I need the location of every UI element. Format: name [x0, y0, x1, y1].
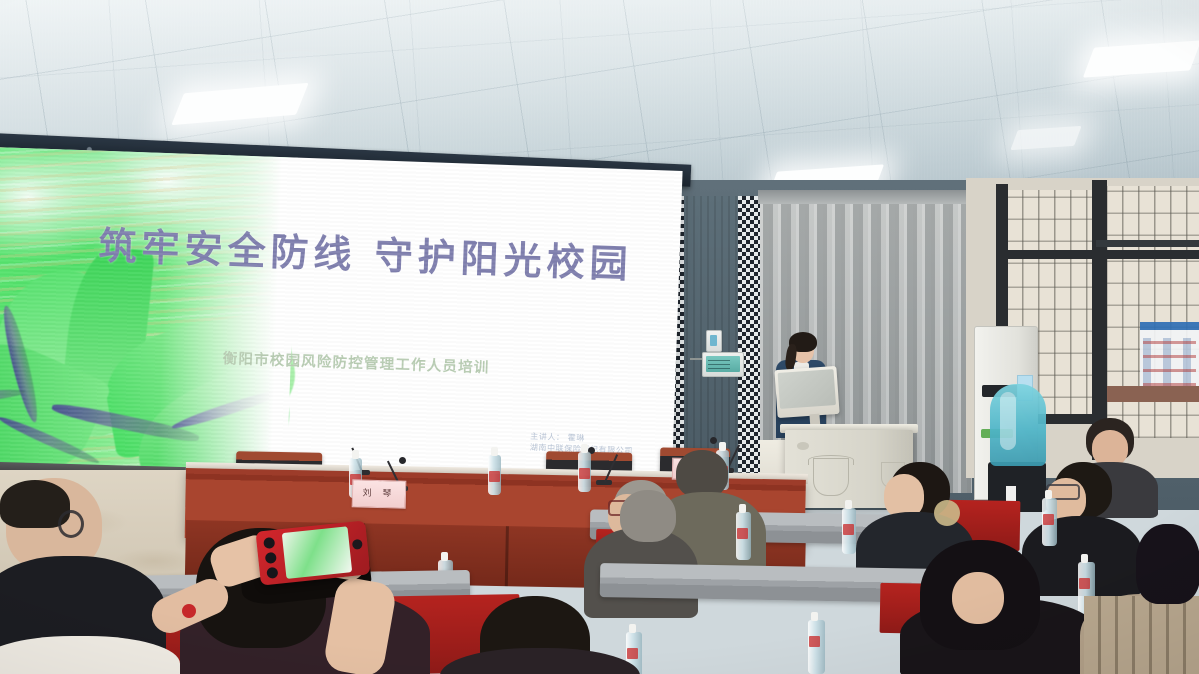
- wall-poster: [1140, 322, 1199, 390]
- table-microphone-head[interactable]: [710, 437, 717, 444]
- water-dispenser-bottle: [990, 384, 1046, 466]
- smartphone-camera-lens: [263, 537, 275, 549]
- light-switch[interactable]: [706, 330, 722, 352]
- audience-plaid-scarf: [1084, 596, 1199, 674]
- window-mullion: [1096, 240, 1199, 247]
- water-bottle: [1042, 498, 1057, 546]
- artwork-fade: [156, 153, 298, 503]
- wrist-band: [182, 604, 196, 618]
- audience-head: [620, 490, 676, 542]
- podium-vase-motif: [813, 458, 849, 496]
- audience-head: [1136, 524, 1199, 604]
- curtain-rail: [758, 190, 974, 204]
- control-panel-display: [706, 356, 740, 372]
- audience-face: [952, 572, 1004, 624]
- water-bottle: [842, 508, 856, 554]
- smartphone-screen: [282, 526, 352, 579]
- table-nameplate-text: 刘 琴: [353, 480, 406, 507]
- slide-artwork: [0, 147, 294, 503]
- audience-head: [676, 450, 728, 498]
- audience-smartphone[interactable]: [255, 520, 370, 585]
- table-panel-seam: [505, 526, 509, 586]
- table-nameplate: 刘 琴: [352, 479, 407, 508]
- smartphone-camera-lens: [266, 567, 278, 579]
- water-dispenser-tap[interactable]: [1006, 486, 1016, 502]
- smartphone-camera-lens: [265, 552, 277, 564]
- podium-monitor-screen: [778, 369, 836, 409]
- smartphone-camera-lens: [352, 539, 363, 550]
- window-mullion: [996, 250, 1199, 259]
- podium-monitor[interactable]: [774, 366, 839, 418]
- window-sill: [1096, 386, 1199, 402]
- av-control-panel[interactable]: [702, 352, 744, 377]
- water-bottle: [808, 620, 825, 674]
- table-microphone-head[interactable]: [399, 457, 406, 464]
- water-bottle: [488, 455, 501, 495]
- audience-face: [1092, 430, 1128, 466]
- conference-room-scene: 筑牢安全防线 守护阳光校园 衡阳市校园风险防控管理工作人员培训 主讲人： 霍琳 …: [0, 0, 1199, 674]
- glasses-icon: [58, 510, 84, 538]
- water-bottle: [736, 512, 751, 560]
- water-bottle: [578, 452, 591, 492]
- audience-hair-accessory: [934, 500, 960, 526]
- checkered-wall-strip: [738, 196, 760, 496]
- podium-badge: [797, 442, 809, 450]
